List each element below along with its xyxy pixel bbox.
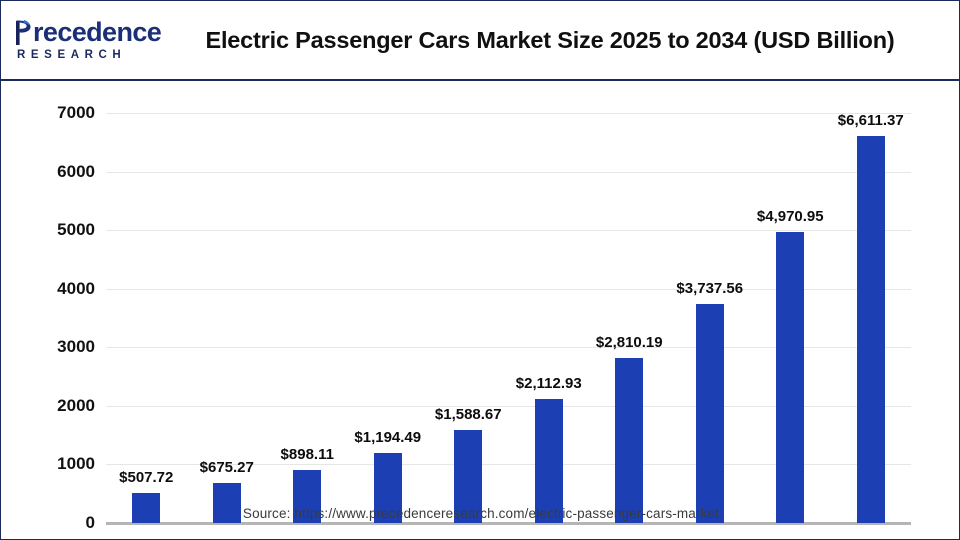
y-axis-tick-label: 4000 [39,279,95,299]
plot-area: $507.72$675.27$898.11$1,194.49$1,588.67$… [106,113,911,523]
source-caption: Source: https://www.precedenceresearch.c… [1,506,960,521]
bar-2033[interactable] [776,232,804,523]
bar-value-label-2031: $2,810.19 [596,334,663,351]
y-axis-tick-label: 2000 [39,396,95,416]
bar-2032[interactable] [696,304,724,523]
bar-value-label-2028: $1,194.49 [354,429,421,446]
bar-2030[interactable] [535,399,563,523]
leaf-p-mark-icon [15,19,32,45]
logo-subtext: RESEARCH [15,49,171,61]
y-axis-tick-label: 7000 [39,103,95,123]
logo-main-row: recedence [15,19,171,45]
precedence-research-logo: recedence RESEARCH [1,19,171,61]
bar-value-label-2033: $4,970.95 [757,208,824,225]
bar-value-label-2027: $898.11 [281,446,334,463]
bar-value-label-2029: $1,588.67 [435,406,502,423]
bar-value-label-2032: $3,737.56 [676,280,743,297]
bar-2034[interactable] [857,136,885,523]
y-axis-tick-label: 6000 [39,162,95,182]
bar-2031[interactable] [615,358,643,523]
x-axis-labels: 2025202620272028202920302031203220332034 [106,523,911,540]
y-axis-tick-label: 5000 [39,220,95,240]
bar-value-label-2026: $675.27 [200,459,254,476]
y-axis-tick-label: 1000 [39,454,95,474]
gridline [106,172,911,173]
bar-value-label-2025: $507.72 [119,469,173,486]
gridline [106,113,911,114]
bar-value-label-2030: $2,112.93 [516,375,582,392]
header: recedence RESEARCH Electric Passenger Ca… [1,1,959,81]
logo-subtext-value: RESEARCH [17,49,126,61]
y-axis-tick-label: 3000 [39,337,95,357]
page-title: Electric Passenger Cars Market Size 2025… [171,27,959,54]
y-axis-labels: 01000200030004000500060007000 [39,113,95,523]
logo-wordmark-text: recedence [33,17,161,47]
chart-area: 01000200030004000500060007000 $507.72$67… [1,83,960,540]
logo-wordmark: recedence [33,19,161,45]
chart-screenshot: recedence RESEARCH Electric Passenger Ca… [0,0,960,540]
bar-value-label-2034: $6,611.37 [838,112,904,129]
